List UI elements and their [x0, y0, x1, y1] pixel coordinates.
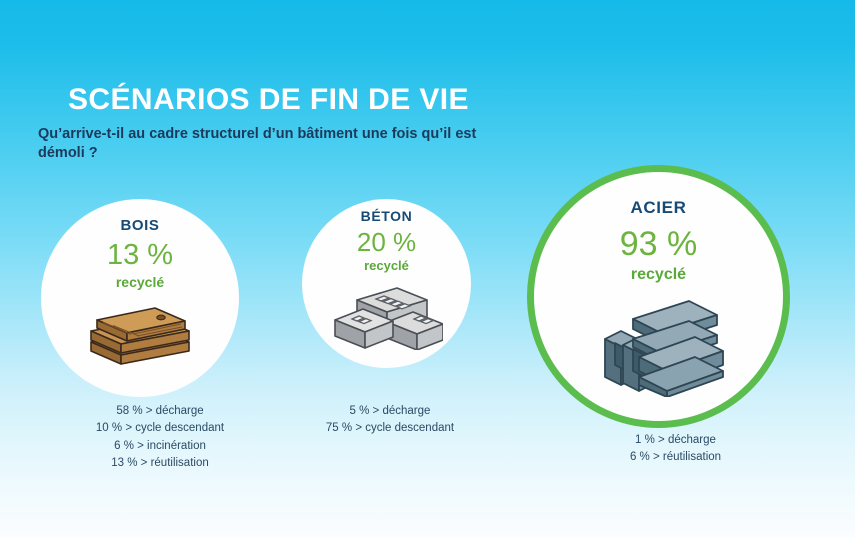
caption-line: 10 % > cycle descendant	[60, 420, 260, 437]
material-recycled-label-beton: recyclé	[364, 258, 409, 273]
caption-line: 6 % > réutilisation	[588, 449, 763, 466]
caption-line: 58 % > décharge	[60, 403, 260, 420]
caption-bois: 58 % > décharge 10 % > cycle descendant …	[60, 403, 260, 473]
steel-beams-icon	[593, 293, 725, 397]
material-percent-beton: 20 %	[357, 229, 416, 255]
caption-acier: 1 % > décharge 6 % > réutilisation	[588, 432, 763, 467]
material-recycled-label-acier: recyclé	[631, 266, 686, 284]
material-card-acier-content: ACIER 93 % recyclé	[534, 172, 783, 421]
caption-line: 13 % > réutilisation	[60, 455, 260, 472]
material-card-bois: BOIS 13 % recyclé	[41, 199, 239, 397]
material-card-beton: BÉTON 20 % recyclé	[302, 199, 471, 368]
material-percent-acier: 93 %	[620, 227, 698, 261]
header: SCÉNARIOS DE FIN DE VIE Qu’arrive-t-il a…	[38, 84, 518, 164]
caption-line: 5 % > décharge	[300, 403, 480, 420]
material-name-bois: BOIS	[120, 217, 159, 234]
caption-line: 75 % > cycle descendant	[300, 420, 480, 437]
caption-beton: 5 % > décharge 75 % > cycle descendant	[300, 403, 480, 438]
material-percent-bois: 13 %	[107, 241, 173, 270]
material-icon-wrap-beton	[331, 278, 443, 350]
concrete-blocks-icon	[331, 278, 443, 350]
material-card-beton-content: BÉTON 20 % recyclé	[302, 199, 471, 368]
infographic-canvas: SCÉNARIOS DE FIN DE VIE Qu’arrive-t-il a…	[0, 0, 855, 537]
page-title: SCÉNARIOS DE FIN DE VIE	[68, 84, 518, 116]
wood-planks-icon	[81, 298, 199, 366]
page-subtitle: Qu’arrive-t-il au cadre structurel d’un …	[38, 125, 493, 164]
material-recycled-label-bois: recyclé	[116, 274, 164, 290]
material-card-bois-content: BOIS 13 % recyclé	[41, 199, 239, 397]
material-icon-wrap-acier	[593, 293, 725, 397]
material-name-acier: ACIER	[631, 198, 687, 218]
material-name-beton: BÉTON	[361, 208, 413, 224]
caption-line: 1 % > décharge	[588, 432, 763, 449]
material-icon-wrap-bois	[81, 298, 199, 366]
caption-line: 6 % > incinération	[60, 438, 260, 455]
material-card-acier: ACIER 93 % recyclé	[527, 165, 790, 428]
